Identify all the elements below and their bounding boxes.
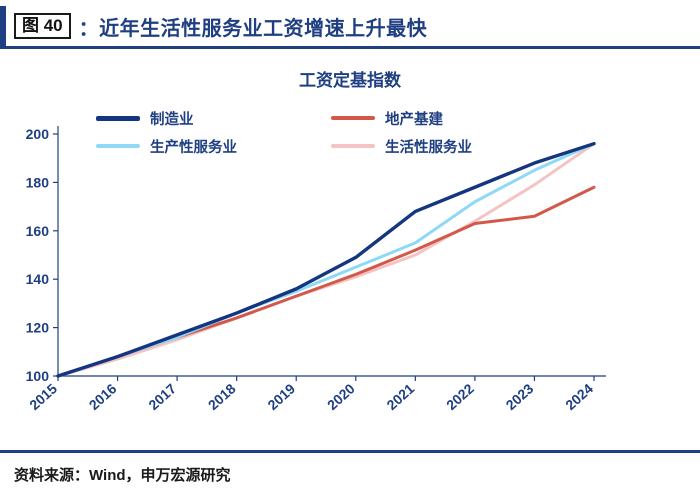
source-note: 资料来源：Wind，申万宏源研究 [14,464,231,485]
x-tick-label: 2024 [562,380,596,413]
x-tick-label: 2023 [503,380,537,413]
y-tick-label: 140 [26,271,50,287]
header-accent-bar [0,6,6,46]
y-tick-label: 120 [26,320,50,336]
header: 图 40 ：近年生活性服务业工资增速上升最快 [0,6,700,46]
page-title: ：近年生活性服务业工资增速上升最快 [79,12,428,41]
y-tick-label: 160 [26,223,50,239]
y-tick-label: 100 [26,368,50,384]
x-tick-label: 2018 [205,380,239,413]
y-tick-label: 200 [26,126,50,142]
series-line-0 [58,144,594,376]
footer-divider [0,450,700,453]
header-divider [0,46,700,49]
series-line-2 [58,144,594,376]
x-tick-label: 2022 [443,380,477,413]
y-tick-label: 180 [26,174,50,190]
series-line-3 [58,144,594,376]
figure-number-badge: 图 40 [14,13,71,39]
title-text: 近年生活性服务业工资增速上升最快 [99,18,427,40]
x-tick-label: 2017 [145,380,179,413]
x-tick-label: 2019 [264,380,298,413]
x-tick-label: 2020 [324,380,358,413]
chart-svg: 1001201401601802002015201620172018201920… [0,60,700,430]
x-tick-label: 2016 [86,380,120,413]
x-tick-label: 2021 [383,380,417,413]
plot-area: 1001201401601802002015201620172018201920… [0,60,700,430]
title-separator: ： [79,18,100,40]
x-tick-label: 2015 [26,380,60,413]
chart-page: 图 40 ：近年生活性服务业工资增速上升最快 工资定基指数 制造业 地产基建 生… [0,0,700,497]
